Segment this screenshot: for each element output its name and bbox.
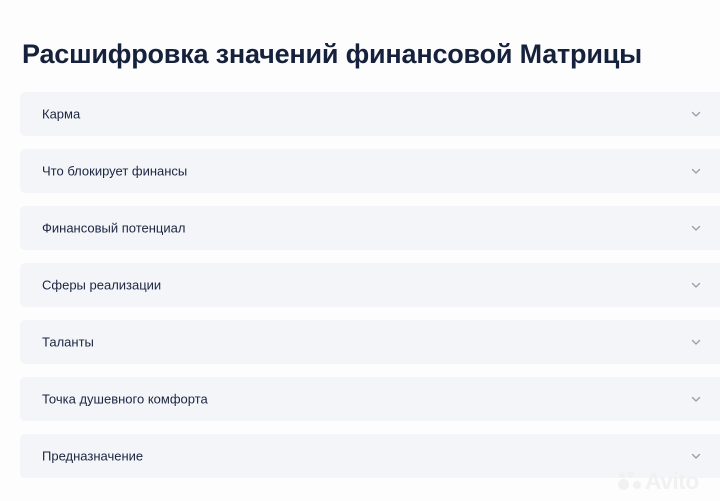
- chevron-down-icon[interactable]: [690, 222, 702, 234]
- accordion-item-chto-blokiruet-finansy[interactable]: Что блокирует финансы: [20, 149, 720, 193]
- accordion-item-karma[interactable]: Карма: [20, 92, 720, 136]
- page-title: Расшифровка значений финансовой Матрицы: [22, 37, 720, 71]
- accordion-item-sfery-realizacii[interactable]: Сферы реализации: [20, 263, 720, 307]
- accordion-item-label: Сферы реализации: [42, 277, 161, 294]
- accordion-item-label: Карма: [42, 106, 80, 123]
- chevron-down-icon[interactable]: [690, 165, 702, 177]
- accordion-item-finansovyy-potencial[interactable]: Финансовый потенциал: [20, 206, 720, 250]
- chevron-down-icon[interactable]: [690, 279, 702, 291]
- accordion-item-label: Предназначение: [42, 448, 143, 465]
- accordion-item-label: Что блокирует финансы: [42, 163, 187, 180]
- accordion-item-tochka-dushevnogo-komforta[interactable]: Точка душевного комфорта: [20, 377, 720, 421]
- accordion-item-label: Таланты: [42, 334, 94, 351]
- accordion-item-label: Точка душевного комфорта: [42, 391, 208, 408]
- chevron-down-icon[interactable]: [690, 108, 702, 120]
- accordion-item-talanty[interactable]: Таланты: [20, 320, 720, 364]
- chevron-down-icon[interactable]: [690, 393, 702, 405]
- page-root: Расшифровка значений финансовой Матрицы …: [0, 0, 720, 501]
- accordion-list: Карма Что блокирует финансы Финансовый п…: [20, 92, 720, 478]
- accordion-item-prednaznachenie[interactable]: Предназначение: [20, 434, 720, 478]
- chevron-down-icon[interactable]: [690, 336, 702, 348]
- accordion-item-label: Финансовый потенциал: [42, 220, 185, 237]
- chevron-down-icon[interactable]: [690, 450, 702, 462]
